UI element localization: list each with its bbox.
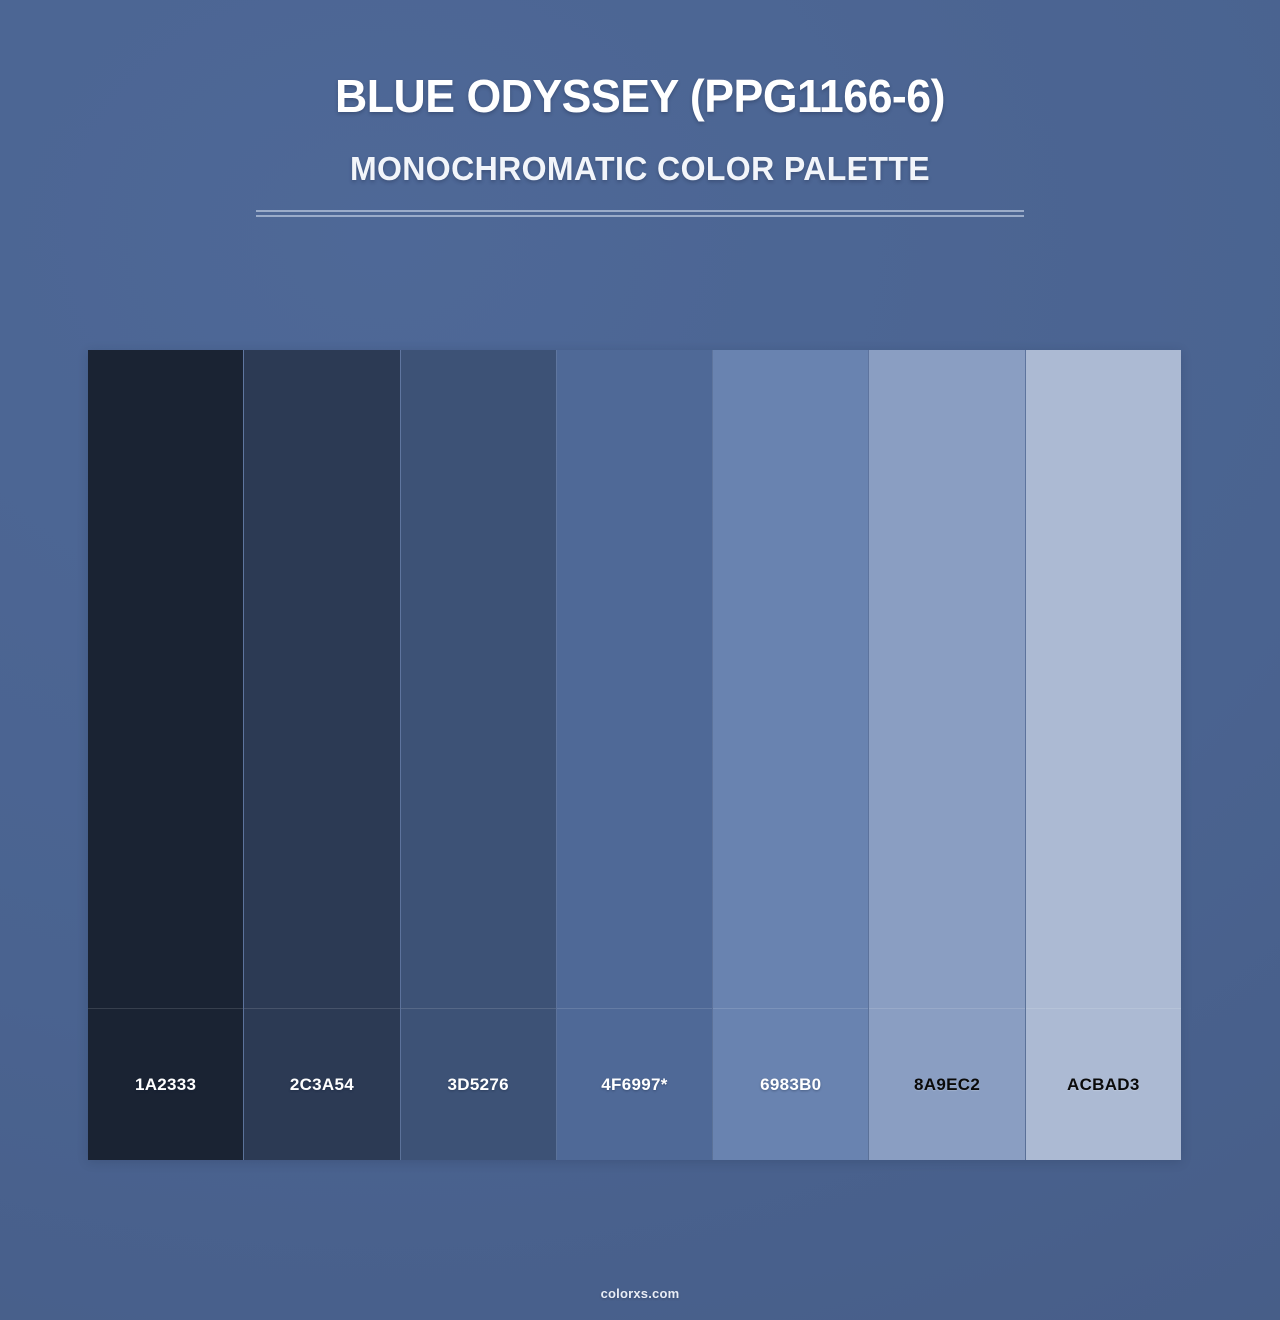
- swatch-color-block: [1026, 350, 1181, 1008]
- swatch-hex-label: 6983B0: [760, 1075, 821, 1095]
- page-title: BLUE ODYSSEY (PPG1166-6): [19, 72, 1261, 120]
- swatch-hex-label: 2C3A54: [290, 1075, 354, 1095]
- color-swatch[interactable]: 8A9EC2: [869, 350, 1025, 1160]
- swatch-label-strip: ACBAD3: [1026, 1008, 1181, 1160]
- page-subtitle: MONOCHROMATIC COLOR PALETTE: [19, 150, 1261, 188]
- color-swatch[interactable]: ACBAD3: [1026, 350, 1181, 1160]
- swatch-hex-label: 3D5276: [448, 1075, 509, 1095]
- site-credit: colorxs.com: [601, 1286, 680, 1301]
- color-swatch[interactable]: 2C3A54: [244, 350, 400, 1160]
- color-palette: 1A23332C3A543D52764F6997*6983B08A9EC2ACB…: [88, 350, 1181, 1160]
- swatch-label-strip: 6983B0: [713, 1008, 868, 1160]
- swatch-label-strip: 3D5276: [401, 1008, 556, 1160]
- page-footer: colorxs.com: [0, 1285, 1280, 1303]
- page-header: BLUE ODYSSEY (PPG1166-6) MONOCHROMATIC C…: [0, 0, 1280, 217]
- swatch-hex-label: 1A2333: [135, 1075, 196, 1095]
- swatch-color-block: [401, 350, 556, 1008]
- swatch-color-block: [557, 350, 712, 1008]
- color-swatch[interactable]: 6983B0: [713, 350, 869, 1160]
- color-swatch[interactable]: 1A2333: [88, 350, 244, 1160]
- swatch-label-strip: 4F6997*: [557, 1008, 712, 1160]
- divider-line-bottom: [256, 215, 1024, 217]
- swatch-color-block: [713, 350, 868, 1008]
- swatch-color-block: [869, 350, 1024, 1008]
- swatch-color-block: [244, 350, 399, 1008]
- swatch-label-strip: 8A9EC2: [869, 1008, 1024, 1160]
- swatch-hex-label: 8A9EC2: [914, 1075, 980, 1095]
- swatch-label-strip: 2C3A54: [244, 1008, 399, 1160]
- swatch-color-block: [88, 350, 243, 1008]
- swatch-label-strip: 1A2333: [88, 1008, 243, 1160]
- color-swatch[interactable]: 4F6997*: [557, 350, 713, 1160]
- swatch-hex-label: ACBAD3: [1067, 1075, 1140, 1095]
- header-divider: [256, 210, 1024, 217]
- color-swatch[interactable]: 3D5276: [401, 350, 557, 1160]
- swatch-hex-label: 4F6997*: [601, 1075, 667, 1095]
- divider-line-top: [256, 210, 1024, 212]
